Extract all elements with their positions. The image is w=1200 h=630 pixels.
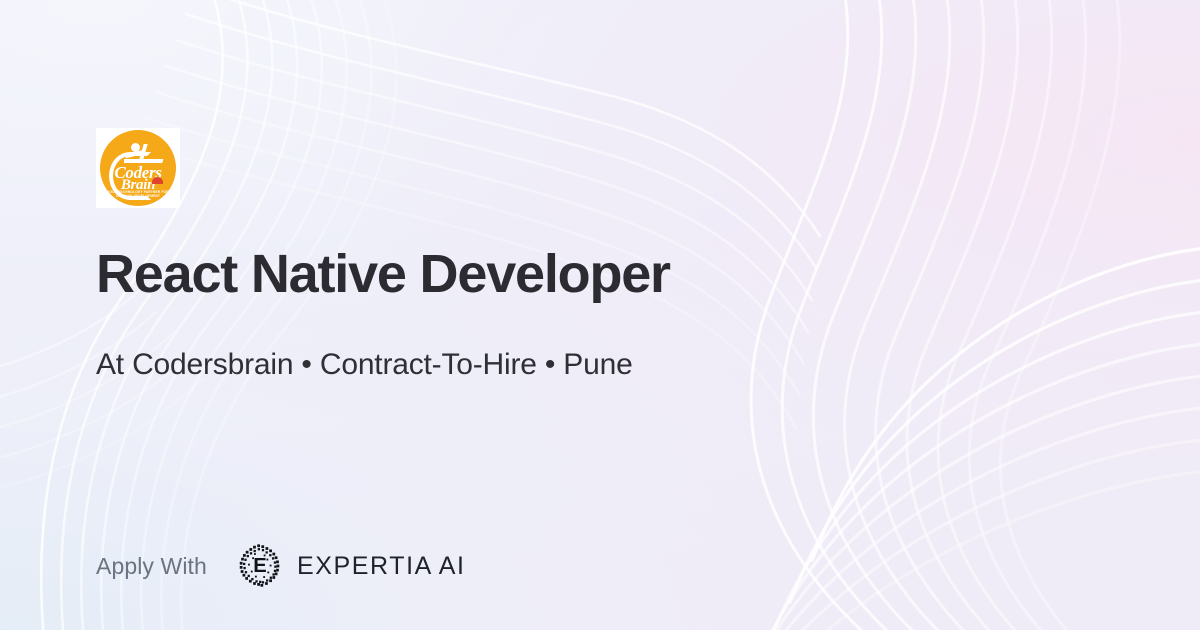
expertia-ai-wordmark: EXPERTIA AI bbox=[297, 552, 466, 581]
job-meta-line: At Codersbrain • Contract-To-Hire • Pune bbox=[96, 348, 633, 382]
expertia-ai-logo-icon: E bbox=[237, 543, 283, 589]
page-title: React Native Developer bbox=[96, 246, 670, 303]
svg-text:E: E bbox=[253, 555, 267, 577]
logo-desk-shape bbox=[124, 159, 162, 163]
job-share-card: Coders Brain YOUR TECHNOLOGY PARTNER FOR… bbox=[0, 0, 1200, 630]
codersbrain-logo-icon: Coders Brain YOUR TECHNOLOGY PARTNER FOR… bbox=[100, 130, 176, 206]
company-logo: Coders Brain YOUR TECHNOLOGY PARTNER FOR… bbox=[96, 128, 180, 208]
apply-with-label: Apply With bbox=[96, 553, 207, 580]
apply-with-row: Apply With bbox=[96, 543, 466, 589]
logo-red-accent-shape bbox=[152, 177, 163, 184]
logo-tagline: YOUR TECHNOLOGY PARTNER FOR ONGOING DEVE… bbox=[100, 190, 176, 199]
